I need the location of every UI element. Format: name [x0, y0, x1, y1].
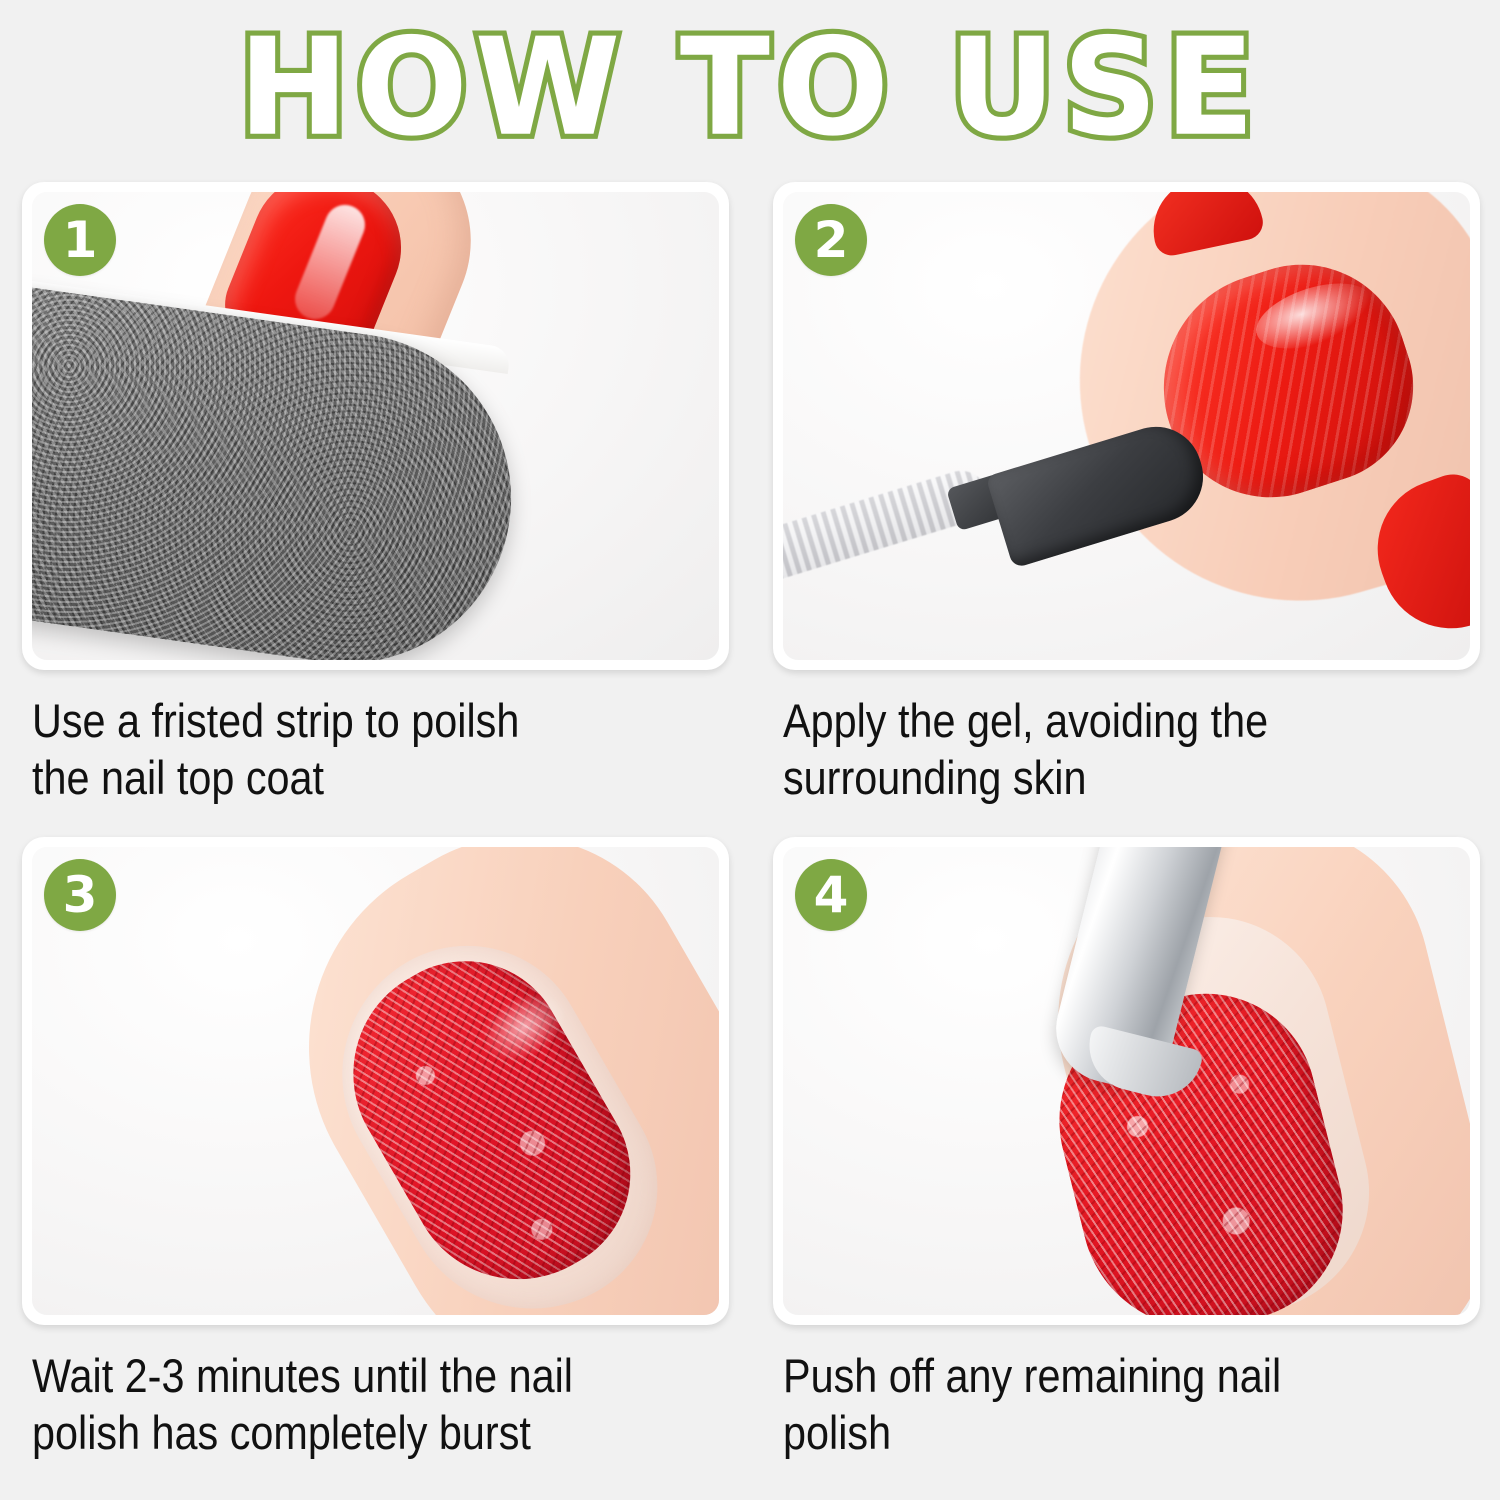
step-2-image-card: 2 [773, 182, 1480, 670]
step-card-1: 1 Use a fristed strip to poilsh the nail… [22, 182, 729, 832]
step-4-image-card: 4 [773, 837, 1480, 1325]
step-badge-1: 1 [44, 204, 116, 276]
step-caption-1: Use a fristed strip to poilsh the nail t… [32, 692, 648, 806]
step-card-4: 4 Push off any remaining nail polish [773, 837, 1480, 1487]
how-to-use-infographic: HOW TO USE 1 Use a fristed strip to poil… [0, 0, 1500, 1500]
step-caption-4: Push off any remaining nail polish [783, 1347, 1399, 1461]
step-caption-2: Apply the gel, avoiding the surrounding … [783, 692, 1399, 806]
step-3-image-card: 3 [22, 837, 729, 1325]
step-1-photo [32, 192, 719, 660]
step-2-photo [783, 192, 1470, 660]
page-title: HOW TO USE [238, 20, 1261, 155]
step-4-photo [783, 847, 1470, 1315]
step-badge-4: 4 [795, 859, 867, 931]
step-badge-2: 2 [795, 204, 867, 276]
step-1-image-card: 1 [22, 182, 729, 670]
step-card-2: 2 Apply the gel, avoiding the surroundin… [773, 182, 1480, 832]
steps-grid: 1 Use a fristed strip to poilsh the nail… [22, 182, 1480, 1482]
step-badge-3: 3 [44, 859, 116, 931]
step-card-3: 3 Wait 2-3 minutes until the nail polish… [22, 837, 729, 1487]
step-caption-3: Wait 2-3 minutes until the nail polish h… [32, 1347, 648, 1461]
step-3-photo [32, 847, 719, 1315]
page-title-container: HOW TO USE [0, 28, 1500, 158]
